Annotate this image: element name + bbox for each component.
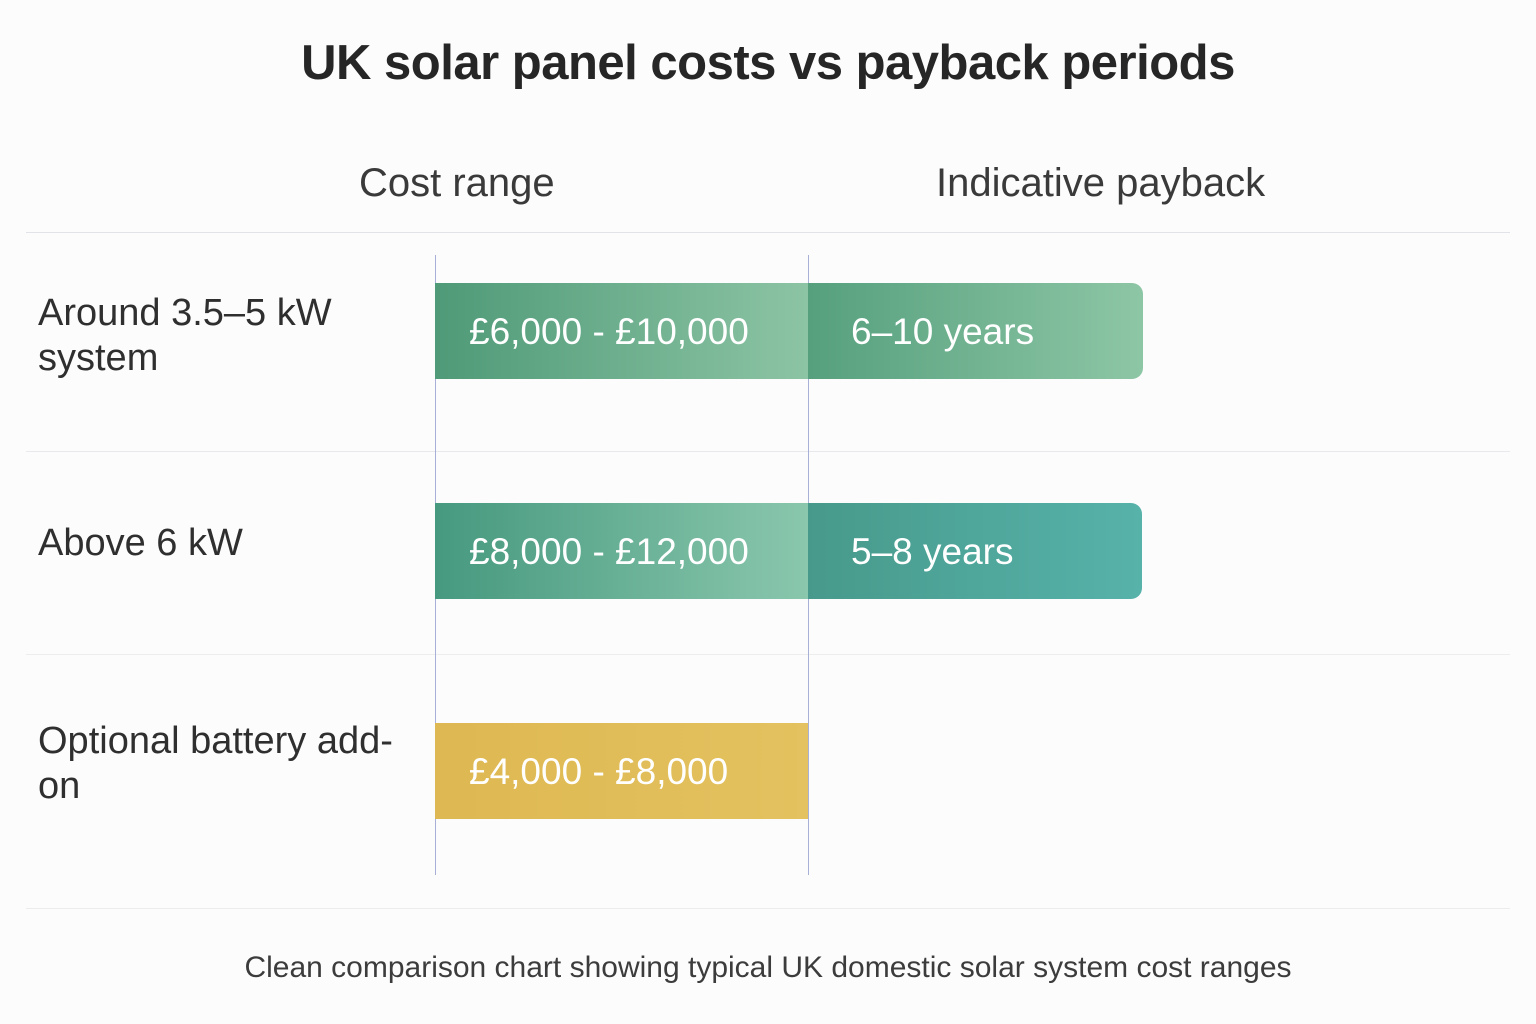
column-header-indicative-payback: Indicative payback (936, 159, 1265, 207)
footer-divider (26, 908, 1510, 909)
cost-value-row-1: £6,000 - £10,000 (469, 313, 749, 350)
table-row: £4,000 - £8,000 (435, 723, 808, 819)
table-row: £6,000 - £10,000 (435, 283, 808, 379)
chart-caption: Clean comparison chart showing typical U… (0, 950, 1536, 986)
row-label-system-large: Above 6 kW (38, 521, 418, 566)
chart-canvas: UK solar panel costs vs payback periods … (0, 0, 1536, 1024)
cost-value-row-3: £4,000 - £8,000 (469, 753, 728, 790)
cost-value-row-2: £8,000 - £12,000 (469, 533, 749, 570)
column-header-cost-range: Cost range (359, 159, 555, 207)
payback-bar-row-1: 6–10 years (808, 283, 1143, 379)
table-row: £8,000 - £12,000 (435, 503, 808, 599)
payback-value-row-2: 5–8 years (851, 533, 1014, 570)
row-divider-1 (26, 451, 1510, 452)
payback-bar-row-2: 5–8 years (808, 503, 1142, 599)
row-label-system-small: Around 3.5–5 kW system (38, 291, 418, 381)
row-divider-2 (26, 654, 1510, 655)
header-divider (26, 232, 1510, 233)
row-label-battery-addon: Optional battery add-on (38, 719, 418, 809)
payback-value-row-1: 6–10 years (851, 313, 1034, 350)
page-title: UK solar panel costs vs payback periods (0, 34, 1536, 93)
